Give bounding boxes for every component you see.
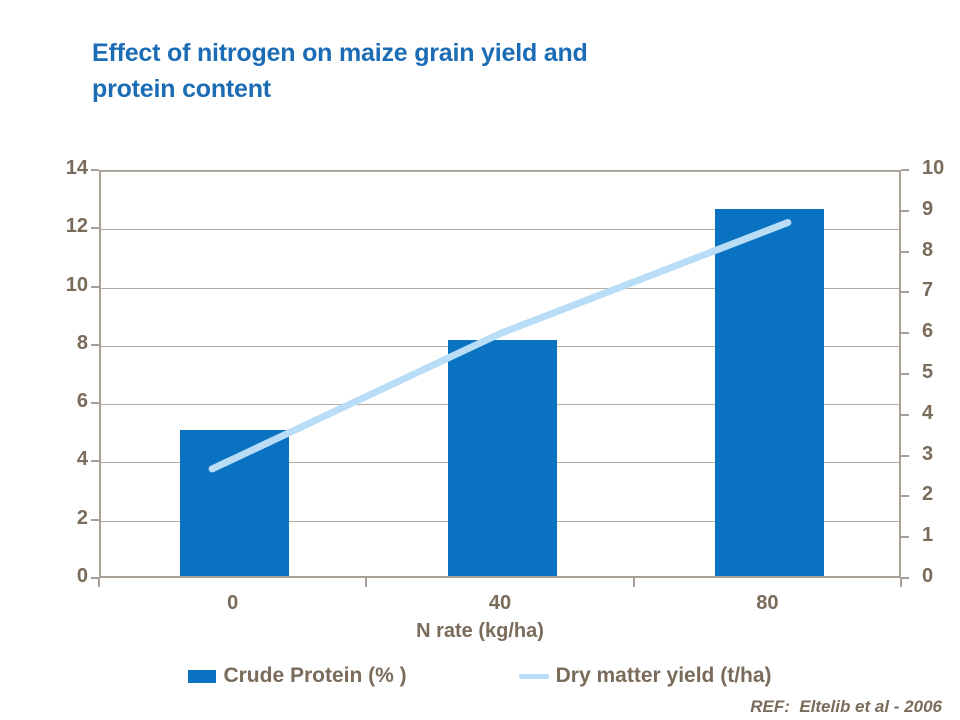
y-axis-left-tick-mark bbox=[91, 460, 99, 462]
chart-legend: Crude Protein (% ) Dry matter yield (t/h… bbox=[0, 664, 960, 688]
y-axis-right-tick-5: 5 bbox=[922, 361, 960, 384]
y-axis-right-tick-10: 10 bbox=[922, 157, 960, 180]
chart-title: Effect of nitrogen on maize grain yield … bbox=[92, 36, 792, 107]
y-axis-right-tick-mark bbox=[901, 332, 909, 334]
y-axis-right-tick-4: 4 bbox=[922, 402, 960, 425]
y-axis-right-tick-2: 2 bbox=[922, 483, 960, 506]
y-axis-right-tick-7: 7 bbox=[922, 279, 960, 302]
y-axis-right-tick-6: 6 bbox=[922, 320, 960, 343]
y-axis-left-tick-4: 4 bbox=[28, 448, 88, 471]
y-axis-right-tick-0: 0 bbox=[922, 565, 960, 588]
y-axis-left-tick-mark bbox=[91, 519, 99, 521]
chart-title-line-1: Effect of nitrogen on maize grain yield … bbox=[92, 36, 792, 72]
chart-title-line-2: protein content bbox=[92, 72, 792, 108]
y-axis-right-tick-8: 8 bbox=[922, 239, 960, 262]
dry-matter-yield-polyline bbox=[212, 223, 788, 469]
y-axis-left-tick-mark bbox=[91, 402, 99, 404]
y-axis-right-tick-1: 1 bbox=[922, 524, 960, 547]
y-axis-left-tick-10: 10 bbox=[28, 274, 88, 297]
y-axis-right-tick-mark bbox=[901, 251, 909, 253]
legend-label-dry-matter-yield: Dry matter yield (t/ha) bbox=[556, 664, 772, 688]
y-axis-right-tick-mark bbox=[901, 455, 909, 457]
x-axis-tick-mark bbox=[633, 578, 635, 587]
legend-item-dry-matter-yield[interactable]: Dry matter yield (t/ha) bbox=[519, 664, 772, 688]
y-axis-right-tick-mark bbox=[901, 495, 909, 497]
y-axis-left-tick-14: 14 bbox=[28, 157, 88, 180]
gridline bbox=[101, 579, 899, 580]
y-axis-left-tick-mark bbox=[91, 344, 99, 346]
x-axis-tick-mark bbox=[98, 578, 100, 587]
y-axis-left-tick-mark bbox=[91, 169, 99, 171]
legend-label-crude-protein: Crude Protein (% ) bbox=[223, 664, 406, 688]
reference-note: REF: Eltelib et al - 2006 bbox=[750, 697, 942, 717]
y-axis-right-tick-9: 9 bbox=[922, 198, 960, 221]
x-axis-tick-mark bbox=[900, 578, 902, 587]
y-axis-left-tick-mark bbox=[91, 227, 99, 229]
y-axis-right-tick-mark bbox=[901, 577, 909, 579]
y-axis-left-tick-0: 0 bbox=[28, 565, 88, 588]
y-axis-left-tick-12: 12 bbox=[28, 215, 88, 238]
y-axis-left-tick-8: 8 bbox=[28, 332, 88, 355]
x-axis-tick-40: 40 bbox=[440, 592, 560, 615]
legend-item-crude-protein[interactable]: Crude Protein (% ) bbox=[188, 664, 406, 688]
legend-bar-swatch-icon bbox=[188, 670, 216, 683]
y-axis-left-tick-mark bbox=[91, 286, 99, 288]
x-axis-tick-mark bbox=[365, 578, 367, 587]
legend-line-swatch-icon bbox=[519, 674, 549, 679]
x-axis-tick-0: 0 bbox=[173, 592, 293, 615]
y-axis-left-tick-6: 6 bbox=[28, 390, 88, 413]
x-axis-tick-80: 80 bbox=[707, 592, 827, 615]
y-axis-right-tick-mark bbox=[901, 169, 909, 171]
y-axis-right-tick-mark bbox=[901, 536, 909, 538]
y-axis-right-tick-3: 3 bbox=[922, 443, 960, 466]
y-axis-right-tick-mark bbox=[901, 373, 909, 375]
plot-area bbox=[99, 170, 901, 578]
y-axis-right-tick-mark bbox=[901, 414, 909, 416]
y-axis-right-tick-mark bbox=[901, 210, 909, 212]
y-axis-right-tick-mark bbox=[901, 291, 909, 293]
x-axis-title: N rate (kg/ha) bbox=[0, 620, 960, 643]
line-series-dry-matter-yield bbox=[101, 172, 899, 576]
y-axis-left-tick-2: 2 bbox=[28, 507, 88, 530]
